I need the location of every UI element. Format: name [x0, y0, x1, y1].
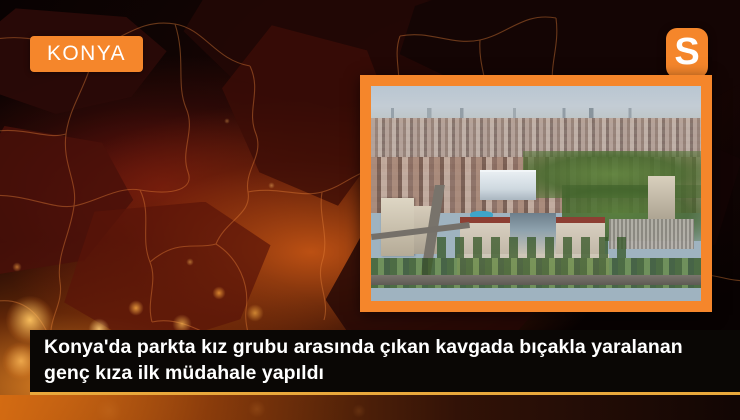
city-label-badge: KONYA [30, 36, 143, 72]
photo-apartment-tower [381, 198, 414, 256]
footer-glow-strip [0, 395, 740, 420]
photo-tree-row [437, 237, 635, 259]
photo-road [371, 275, 701, 285]
caption-bar: Konya'da parkta kız grubu arasında çıkan… [30, 330, 740, 392]
photo-office-block [480, 170, 536, 200]
s-logo-icon: S [674, 33, 699, 71]
photo-apartment-tower [648, 176, 674, 219]
brand-logo[interactable]: S [666, 28, 708, 78]
photo-frame [360, 75, 712, 312]
caption-headline: Konya'da parkta kız grubu arasında çıkan… [30, 335, 718, 387]
news-image-card: KONYA S Konya'd [0, 0, 740, 420]
aerial-city-photo [371, 86, 701, 301]
